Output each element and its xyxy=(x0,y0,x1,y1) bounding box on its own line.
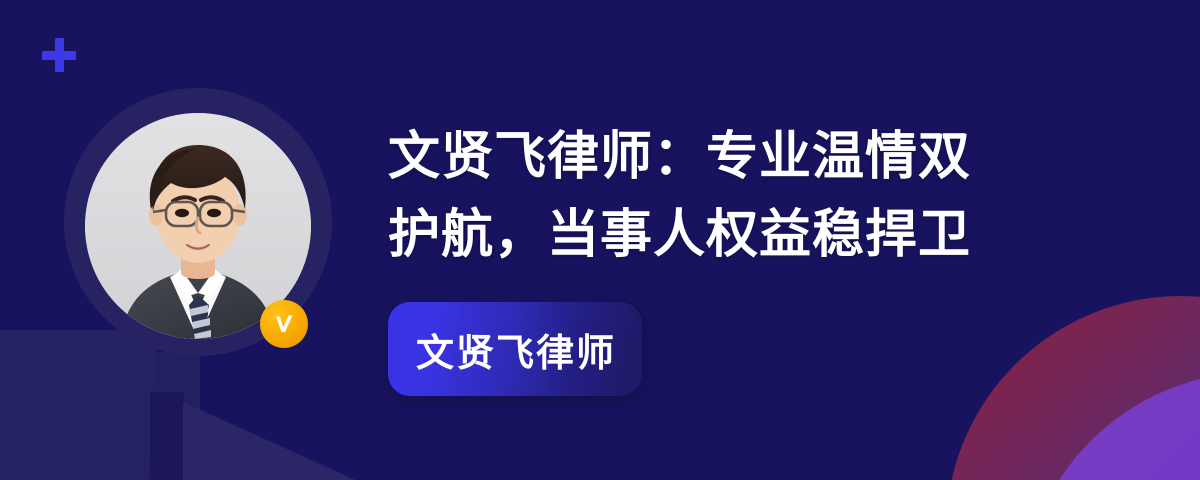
page-title: 文贤飞律师：专业温情双 护航，当事人权益稳捍卫 xyxy=(388,118,1128,274)
plus-icon-vertical-bar xyxy=(55,38,64,72)
content-column: 文贤飞律师：专业温情双 护航，当事人权益稳捍卫 文贤飞律师 xyxy=(388,118,1128,396)
lawyer-name-cta-button[interactable]: 文贤飞律师 xyxy=(388,302,642,396)
avatar xyxy=(64,88,332,356)
decorative-slab xyxy=(0,352,200,480)
decorative-triangle xyxy=(183,402,373,480)
promo-banner: 文贤飞律师：专业温情双 护航，当事人权益稳捍卫 文贤飞律师 xyxy=(0,0,1200,480)
decorative-sliver xyxy=(150,392,184,480)
plus-icon xyxy=(42,38,76,72)
verified-badge xyxy=(260,300,308,348)
